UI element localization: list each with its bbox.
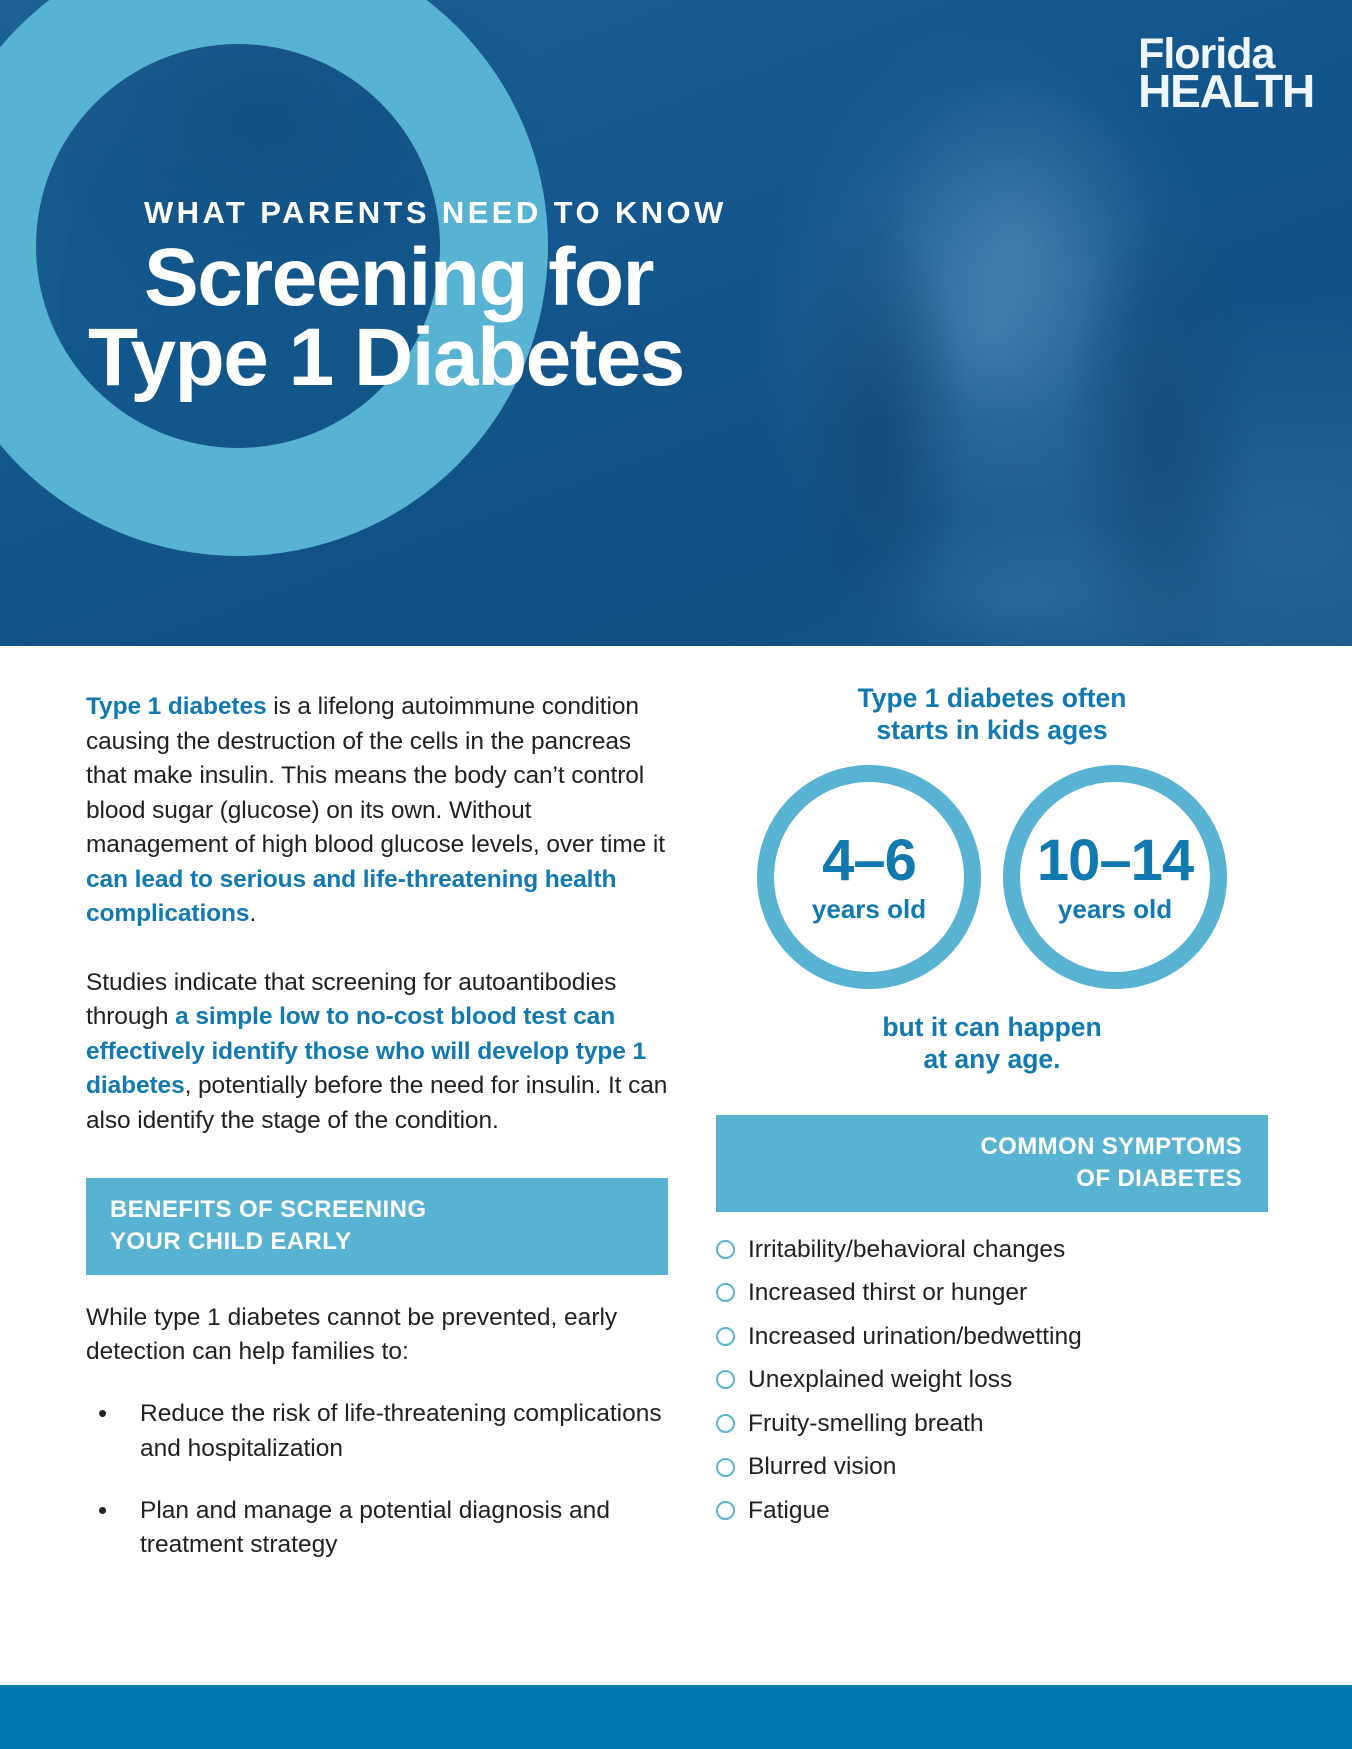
benefits-header-line-1: BENEFITS OF SCREENING	[110, 1194, 644, 1225]
intro-text-3: .	[249, 900, 256, 927]
ages-title-line-1: Type 1 diabetes often	[716, 682, 1268, 714]
circle-bullet-icon	[716, 1458, 735, 1477]
age-circles-group: 4–6 years old 10–14 years old	[716, 765, 1268, 989]
hero-kicker: WHAT PARENTS NEED TO KNOW	[144, 196, 848, 230]
headline-line-2: Type 1 Diabetes	[88, 318, 848, 398]
hero-text-block: WHAT PARENTS NEED TO KNOW Screening for …	[88, 196, 848, 399]
symptoms-header-line-1: COMMON SYMPTOMS	[740, 1131, 1242, 1162]
circle-bullet-icon	[716, 1370, 735, 1389]
symptom-label: Fatigue	[748, 1493, 830, 1529]
symptom-label: Increased urination/bedwetting	[748, 1319, 1082, 1355]
symptom-label: Fruity-smelling breath	[748, 1406, 984, 1442]
circle-bullet-icon	[716, 1283, 735, 1302]
circle-bullet-icon	[716, 1501, 735, 1520]
age-circle-10-14: 10–14 years old	[1003, 765, 1227, 989]
symptoms-list: Irritability/behavioral changes Increase…	[716, 1232, 1268, 1529]
intro-bold-2: can lead to serious and life-threatening…	[86, 866, 616, 928]
list-item: Increased thirst or hunger	[716, 1275, 1268, 1311]
flyer-page: Florida HEALTH WHAT PARENTS NEED TO KNOW…	[0, 0, 1352, 1749]
age-unit-label: years old	[1058, 896, 1172, 922]
hero-banner: Florida HEALTH WHAT PARENTS NEED TO KNOW…	[0, 0, 1352, 646]
list-item: Increased urination/bedwetting	[716, 1319, 1268, 1355]
symptoms-section-header: COMMON SYMPTOMS OF DIABETES	[716, 1115, 1268, 1211]
symptoms-header-line-2: OF DIABETES	[740, 1163, 1242, 1194]
logo-health-text: HEALTH	[1138, 72, 1314, 111]
list-item: Irritability/behavioral changes	[716, 1232, 1268, 1268]
benefits-header-line-2: YOUR CHILD EARLY	[110, 1226, 644, 1257]
ages-note-line-2: at any age.	[716, 1043, 1268, 1075]
circle-bullet-icon	[716, 1414, 735, 1433]
benefits-lead-text: While type 1 diabetes cannot be prevente…	[86, 1301, 668, 1370]
list-item: Unexplained weight loss	[716, 1362, 1268, 1398]
ages-note-line-1: but it can happen	[716, 1011, 1268, 1043]
florida-health-logo: Florida HEALTH	[1138, 36, 1314, 111]
age-range-value: 10–14	[1037, 832, 1193, 890]
age-range-value: 4–6	[822, 832, 916, 890]
intro-lead-bold: Type 1 diabetes	[86, 693, 267, 720]
intro-paragraph: Type 1 diabetes is a lifelong autoimmune…	[86, 690, 668, 932]
symptom-label: Increased thirst or hunger	[748, 1275, 1027, 1311]
content-area: Type 1 diabetes is a lifelong autoimmune…	[0, 646, 1352, 1685]
footer-bar	[0, 1685, 1352, 1749]
age-unit-label: years old	[812, 896, 926, 922]
benefits-list: Reduce the risk of life-threatening comp…	[86, 1397, 668, 1562]
list-item: Fatigue	[716, 1493, 1268, 1529]
circle-bullet-icon	[716, 1327, 735, 1346]
list-item: Blurred vision	[716, 1449, 1268, 1485]
list-item: Fruity-smelling breath	[716, 1406, 1268, 1442]
ages-title-line-2: starts in kids ages	[716, 714, 1268, 746]
symptom-label: Unexplained weight loss	[748, 1362, 1012, 1398]
headline-line-1: Screening for	[144, 238, 848, 318]
list-item: Plan and manage a potential diagnosis an…	[86, 1494, 668, 1563]
circle-bullet-icon	[716, 1240, 735, 1259]
right-column: Type 1 diabetes often starts in kids age…	[716, 646, 1268, 1536]
list-item: Reduce the risk of life-threatening comp…	[86, 1397, 668, 1466]
age-circle-4-6: 4–6 years old	[757, 765, 981, 989]
symptom-label: Irritability/behavioral changes	[748, 1232, 1065, 1268]
left-column: Type 1 diabetes is a lifelong autoimmune…	[86, 646, 668, 1591]
studies-paragraph: Studies indicate that screening for auto…	[86, 966, 668, 1139]
page-title: Screening for Type 1 Diabetes	[88, 238, 848, 399]
ages-note: but it can happen at any age.	[716, 1011, 1268, 1076]
ages-title: Type 1 diabetes often starts in kids age…	[716, 682, 1268, 747]
benefits-section-header: BENEFITS OF SCREENING YOUR CHILD EARLY	[86, 1178, 668, 1274]
symptom-label: Blurred vision	[748, 1449, 896, 1485]
